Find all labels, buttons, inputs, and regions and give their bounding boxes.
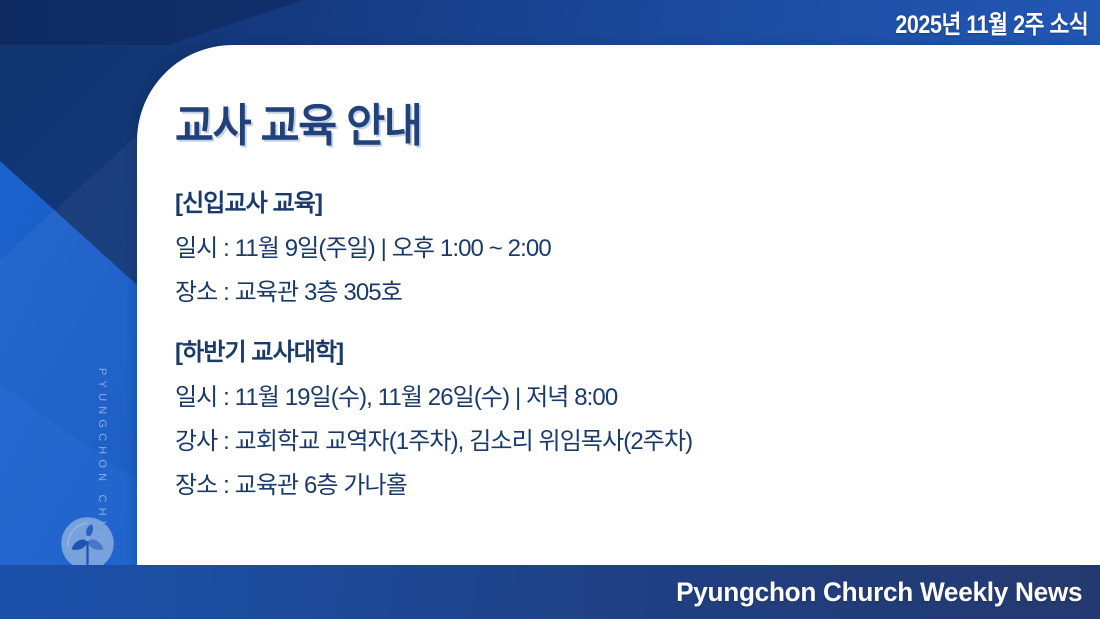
section-heading: [신입교사 교육] [175,190,1060,219]
content-card: 교사 교육 안내 [신입교사 교육] 일시 : 11월 9일(주일) | 오후 … [137,45,1100,565]
footer-bar: Pyungchon Church Weekly News [0,565,1100,619]
church-flower-logo-icon [59,515,116,572]
content-card-inner: 교사 교육 안내 [신입교사 교육] 일시 : 11월 9일(주일) | 오후 … [137,45,1100,501]
section-line-location: 장소 : 교육관 3층 305호 [175,279,1060,308]
section-line-datetime: 일시 : 11월 9일(주일) | 오후 1:00 ~ 2:00 [175,235,1060,264]
footer-brand-label: Pyungchon Church Weekly News [676,577,1100,608]
section-block-new-teacher: [신입교사 교육] 일시 : 11월 9일(주일) | 오후 1:00 ~ 2:… [175,190,1060,307]
section-block-teacher-college: [하반기 교사대학] 일시 : 11월 19일(수), 11월 26일(수) |… [175,339,1060,500]
header-date-label: 2025년 11월 2주 소식 [895,5,1100,41]
header-bar: 2025년 11월 2주 소식 [0,0,1100,45]
section-line-lecturer: 강사 : 교회학교 교역자(1주차), 김소리 위임목사(2주차) [175,428,1060,457]
section-line-location: 장소 : 교육관 6층 가나홀 [175,472,1060,501]
page-title: 교사 교육 안내 [175,103,1007,148]
section-line-datetime: 일시 : 11월 19일(수), 11월 26일(수) | 저녁 8:00 [175,384,1060,413]
header-diagonal-accent [0,0,420,45]
section-heading: [하반기 교사대학] [175,339,1060,368]
slide-canvas: 2025년 11월 2주 소식 PYUNGCHON CHURCH 교사 교육 안… [0,0,1100,619]
